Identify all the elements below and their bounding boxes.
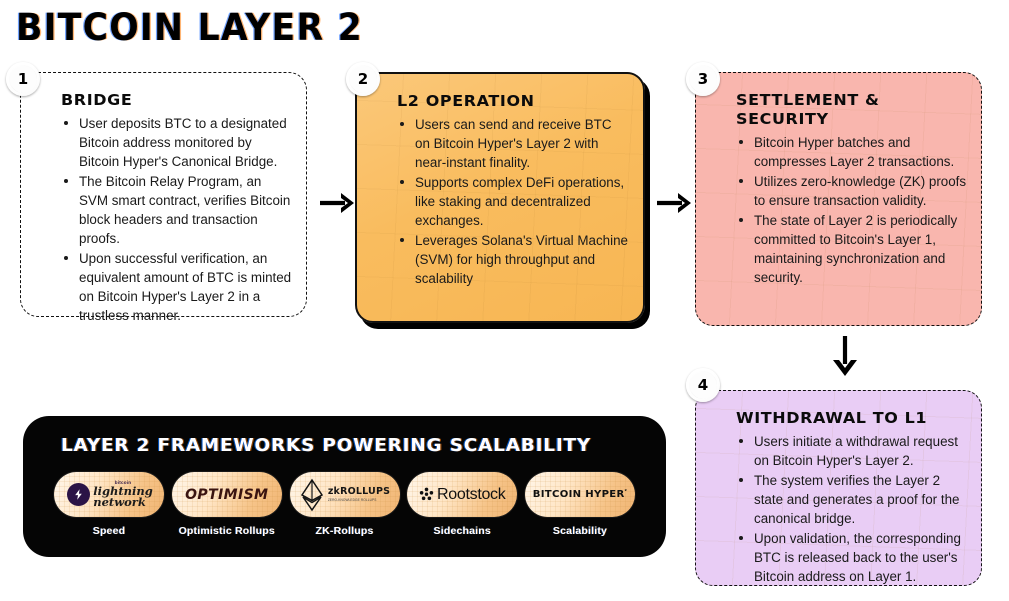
card-l2-operation-bullets: Users can send and receive BTC on Bitcoi… — [379, 115, 629, 288]
bitcoin-hyper-logo: BITCOIN HYPER² — [525, 472, 635, 517]
card-settlement-security-title: SETTLEMENT & SECURITY — [736, 91, 974, 129]
bitcoin-hyper-logo-text: BITCOIN HYPER — [533, 489, 625, 500]
step-badge-3: 3 — [686, 62, 720, 96]
rootstock-mark-icon — [419, 487, 434, 502]
framework-item-optimistic-rollups[interactable]: OPTIMISM Optimistic Rollups — [171, 472, 283, 537]
step-badge-4-number: 4 — [698, 378, 708, 393]
rootstock-logo-text: Rootstock — [437, 486, 505, 504]
list-item: Upon successful verification, an equival… — [77, 249, 292, 325]
rootstock-logo: Rootstock — [407, 472, 517, 517]
framework-item-scalability[interactable]: BITCOIN HYPER² Scalability — [524, 472, 636, 537]
step-badge-2-number: 2 — [358, 72, 368, 87]
list-item: Leverages Solana's Virtual Machine (SVM)… — [413, 231, 629, 288]
card-settlement-security-bullets: Bitcoin Hyper batches and compresses Lay… — [718, 133, 967, 287]
list-item: User deposits BTC to a designated Bitcoi… — [77, 114, 292, 171]
zk-rollups-logo: zkROLLUPS ZERO-KNOWLEDGE ROLLUPS — [290, 472, 400, 517]
zk-rollups-logo-subtext: ZERO-KNOWLEDGE ROLLUPS — [328, 498, 390, 502]
card-l2-operation: L2 OPERATION Users can send and receive … — [355, 72, 645, 323]
framework-label-scalability: Scalability — [553, 525, 607, 537]
step-badge-1-number: 1 — [18, 72, 28, 87]
list-item: Utilizes zero-knowledge (ZK) proofs to e… — [752, 172, 967, 210]
list-item: Supports complex DeFi operations, like s… — [413, 173, 629, 230]
list-item: Users can send and receive BTC on Bitcoi… — [413, 115, 629, 172]
arrow-card2-to-card3 — [655, 188, 695, 223]
list-item: The system verifies the Layer 2 state an… — [752, 471, 967, 528]
framework-label-zk-rollups: ZK-Rollups — [316, 525, 374, 537]
framework-item-sidechains[interactable]: Rootstock Sidechains — [406, 472, 518, 537]
lightning-logo-line2: network — [93, 497, 153, 508]
arrow-card3-to-card4 — [828, 334, 862, 383]
zk-rollups-logo-text: zkROLLUPS — [328, 487, 390, 497]
optimism-logo-text: OPTIMISM — [185, 487, 268, 503]
list-item: Users initiate a withdrawal request on B… — [752, 432, 967, 470]
list-item: Bitcoin Hyper batches and compresses Lay… — [752, 133, 967, 171]
lightning-bolt-icon — [67, 483, 90, 506]
page-title: BITCOIN LAYER 2 — [16, 6, 363, 49]
bitcoin-hyper-logo-sup: ² — [625, 489, 628, 495]
framework-label-optimistic-rollups: Optimistic Rollups — [179, 525, 275, 537]
step-badge-1: 1 — [6, 62, 40, 96]
list-item: The state of Layer 2 is periodically com… — [752, 211, 967, 287]
framework-item-speed[interactable]: bitcoin lightning network Speed — [53, 472, 165, 537]
card-bridge: BRIDGE User deposits BTC to a designated… — [20, 72, 307, 317]
frameworks-panel: LAYER 2 FRAMEWORKS POWERING SCALABILITY … — [23, 416, 666, 557]
arrow-card1-to-card2 — [318, 188, 358, 223]
list-item: The Bitcoin Relay Program, an SVM smart … — [77, 172, 292, 248]
frameworks-title: LAYER 2 FRAMEWORKS POWERING SCALABILITY — [61, 436, 677, 456]
step-badge-4: 4 — [686, 368, 720, 402]
optimism-logo: OPTIMISM — [172, 472, 282, 517]
ethereum-diamond-icon — [299, 478, 325, 512]
lightning-network-logo: bitcoin lightning network — [54, 472, 164, 517]
card-settlement-security: SETTLEMENT & SECURITY Bitcoin Hyper batc… — [695, 72, 982, 326]
framework-label-speed: Speed — [93, 525, 126, 537]
card-bridge-title: BRIDGE — [61, 91, 299, 110]
card-l2-operation-title: L2 OPERATION — [397, 92, 636, 111]
card-withdrawal-to-l1: WITHDRAWAL TO L1 Users initiate a withdr… — [695, 390, 982, 586]
card-bridge-bullets: User deposits BTC to a designated Bitcoi… — [43, 114, 292, 325]
card-withdrawal-to-l1-title: WITHDRAWAL TO L1 — [736, 409, 974, 428]
card-withdrawal-to-l1-bullets: Users initiate a withdrawal request on B… — [718, 432, 967, 586]
step-badge-2: 2 — [346, 62, 380, 96]
framework-label-sidechains: Sidechains — [434, 525, 491, 537]
step-badge-3-number: 3 — [698, 72, 708, 87]
frameworks-row: bitcoin lightning network Speed OPTIMISM… — [53, 472, 636, 537]
list-item: Upon validation, the corresponding BTC i… — [752, 529, 967, 586]
framework-item-zk-rollups[interactable]: zkROLLUPS ZERO-KNOWLEDGE ROLLUPS ZK-Roll… — [289, 472, 401, 537]
